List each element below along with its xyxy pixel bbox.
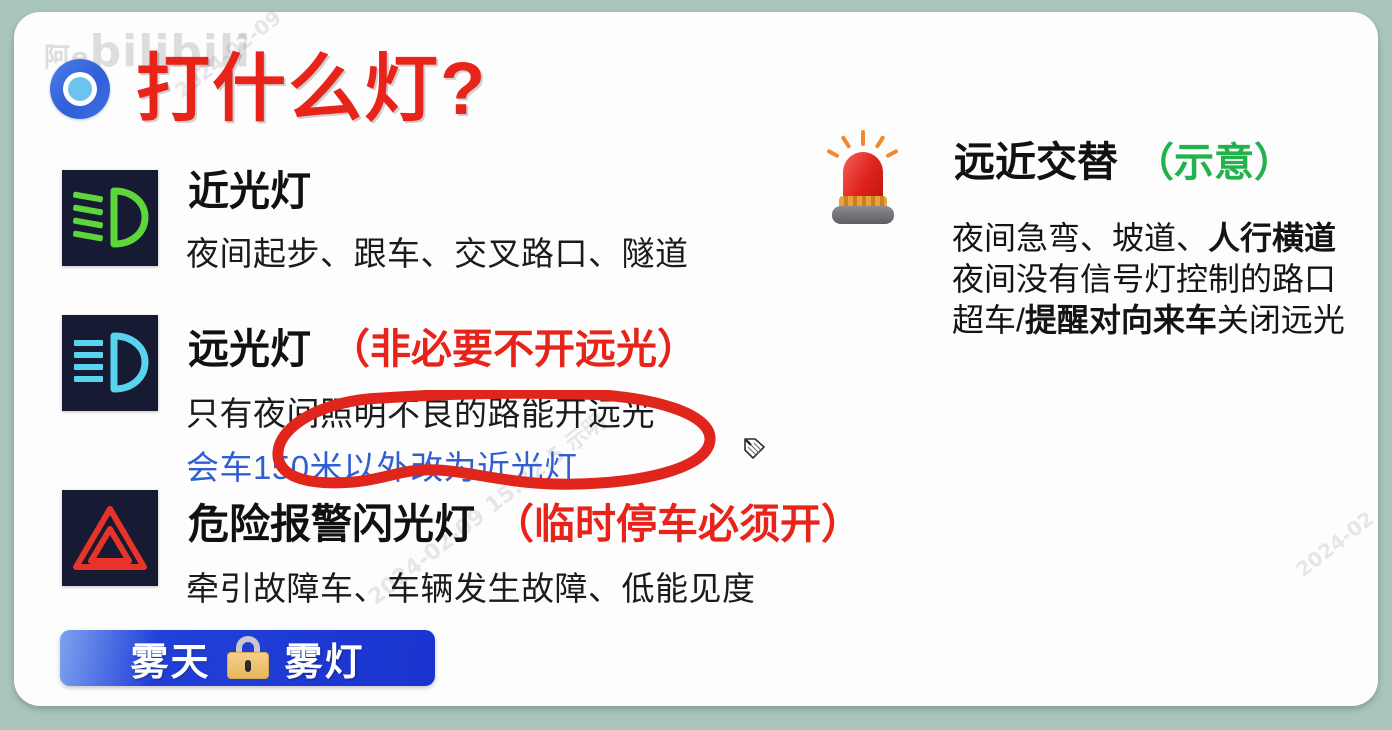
- pen-annotation-cursor: [742, 436, 768, 469]
- fog-banner-left-label: 雾天: [130, 631, 210, 686]
- low-beam-headlight-icon: [62, 170, 158, 266]
- alternating-beams-description: 夜间急弯、坡道、人行横道 夜间没有信号灯控制的路口 超车/提醒对向来车关闭远光: [952, 218, 1345, 341]
- high-beam-description-secondary: 会车150米以外改为近光灯: [186, 441, 698, 489]
- hazard-heading: 危险报警闪光灯: [186, 503, 479, 548]
- hazard-text-block: 危险报警闪光灯 （临时停车必须开） 牵引故障车、车辆发生故障、低能见度: [186, 490, 862, 610]
- page-title: 打什么灯?: [136, 52, 487, 126]
- fog-lamp-banner[interactable]: 雾天 雾灯: [60, 630, 435, 686]
- hazard-description: 牵引故障车、车辆发生故障、低能见度: [186, 562, 862, 610]
- hazard-warning-note: （临时停车必须开）: [493, 490, 862, 550]
- list-item-alternating-beams: 远近交替 （示意） 夜间急弯、坡道、人行横道 夜间没有信号灯控制的路口 超车/提…: [826, 130, 1345, 341]
- list-item-low-beam: 近光灯 夜间起步、跟车、交叉路口、隧道: [62, 170, 689, 275]
- alternating-beams-note: （示意）: [1134, 130, 1294, 188]
- alternating-beams-line-3: 超车/提醒对向来车关闭远光: [952, 300, 1345, 341]
- timestamp-watermark-right: 2024-02: [1291, 506, 1378, 581]
- screenshot-root: 阿ebilibili 2024-02-09 2024-02-09 15:32.5…: [0, 0, 1392, 730]
- lock-emoji: [225, 636, 271, 680]
- hazard-heading-row: 危险报警闪光灯 （临时停车必须开）: [186, 490, 862, 550]
- fog-banner-right-label: 雾灯: [285, 631, 365, 686]
- slide-card: 阿ebilibili 2024-02-09 2024-02-09 15:32.5…: [14, 12, 1378, 706]
- high-beam-description: 只有夜间照明不良的路能开远光: [186, 387, 698, 435]
- low-beam-text-block: 近光灯 夜间起步、跟车、交叉路口、隧道: [186, 170, 689, 275]
- page-title-row: 打什么灯?: [50, 52, 487, 126]
- high-beam-warning-note: （非必要不开远光）: [329, 315, 698, 375]
- list-item-high-beam: 远光灯 （非必要不开远光） 只有夜间照明不良的路能开远光 会车150米以外改为近…: [62, 315, 698, 489]
- alternating-beams-line-1: 夜间急弯、坡道、人行横道: [952, 218, 1345, 259]
- alternating-beams-line-2: 夜间没有信号灯控制的路口: [952, 259, 1345, 300]
- high-beam-heading: 远光灯: [186, 328, 315, 373]
- hazard-warning-triangle-icon: [62, 490, 158, 586]
- alternating-beams-heading-row: 远近交替 （示意）: [952, 130, 1345, 188]
- low-beam-description: 夜间起步、跟车、交叉路口、隧道: [186, 227, 689, 275]
- alternating-beams-text-block: 远近交替 （示意） 夜间急弯、坡道、人行横道 夜间没有信号灯控制的路口 超车/提…: [952, 130, 1345, 341]
- high-beam-heading-row: 远光灯 （非必要不开远光）: [186, 315, 698, 375]
- low-beam-heading: 近光灯: [186, 170, 315, 215]
- low-beam-heading-row: 近光灯: [186, 170, 689, 215]
- alternating-beams-heading: 远近交替: [952, 141, 1122, 186]
- high-beam-text-block: 远光灯 （非必要不开远光） 只有夜间照明不良的路能开远光 会车150米以外改为近…: [186, 315, 698, 489]
- rotating-siren-light-emoji: [826, 130, 900, 226]
- bilibili-target-icon: [50, 59, 110, 119]
- high-beam-headlight-icon: [62, 315, 158, 411]
- list-item-hazard-lights: 危险报警闪光灯 （临时停车必须开） 牵引故障车、车辆发生故障、低能见度: [62, 490, 862, 610]
